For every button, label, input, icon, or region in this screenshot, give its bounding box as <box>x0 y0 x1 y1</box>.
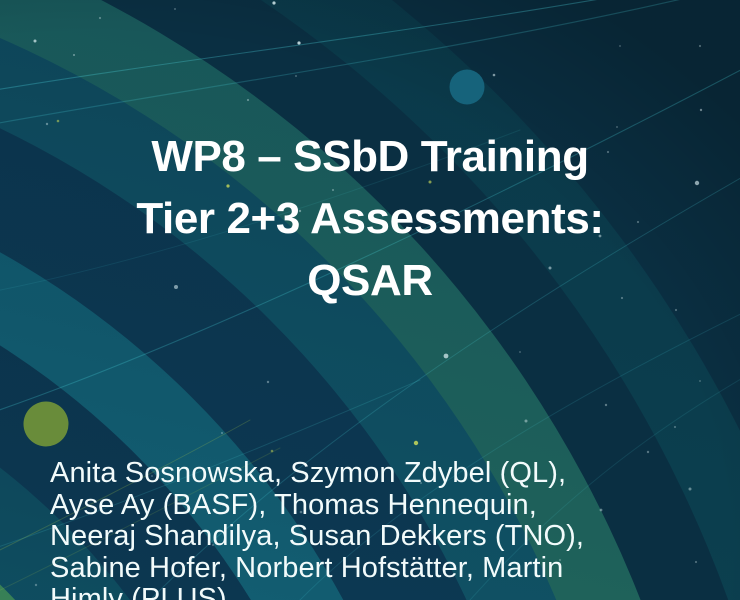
author-line-3: Neeraj Shandilya, Susan Dekkers (TNO), <box>50 521 710 553</box>
author-list: Anita Sosnowska, Szymon Zdybel (QL), Ays… <box>50 458 710 600</box>
author-line-4: Sabine Hofer, Norbert Hofstätter, Martin <box>50 553 710 585</box>
title-line-3: QSAR <box>0 250 740 312</box>
slide-title: WP8 – SSbD Training Tier 2+3 Assessments… <box>0 126 740 312</box>
author-line-2: Ayse Ay (BASF), Thomas Hennequin, <box>50 490 710 522</box>
author-line-5: Himly (PLUS) <box>50 584 710 600</box>
title-line-2: Tier 2+3 Assessments: <box>0 188 740 250</box>
title-line-1: WP8 – SSbD Training <box>0 126 740 188</box>
title-slide: WP8 – SSbD Training Tier 2+3 Assessments… <box>0 0 740 600</box>
author-line-1: Anita Sosnowska, Szymon Zdybel (QL), <box>50 458 710 490</box>
